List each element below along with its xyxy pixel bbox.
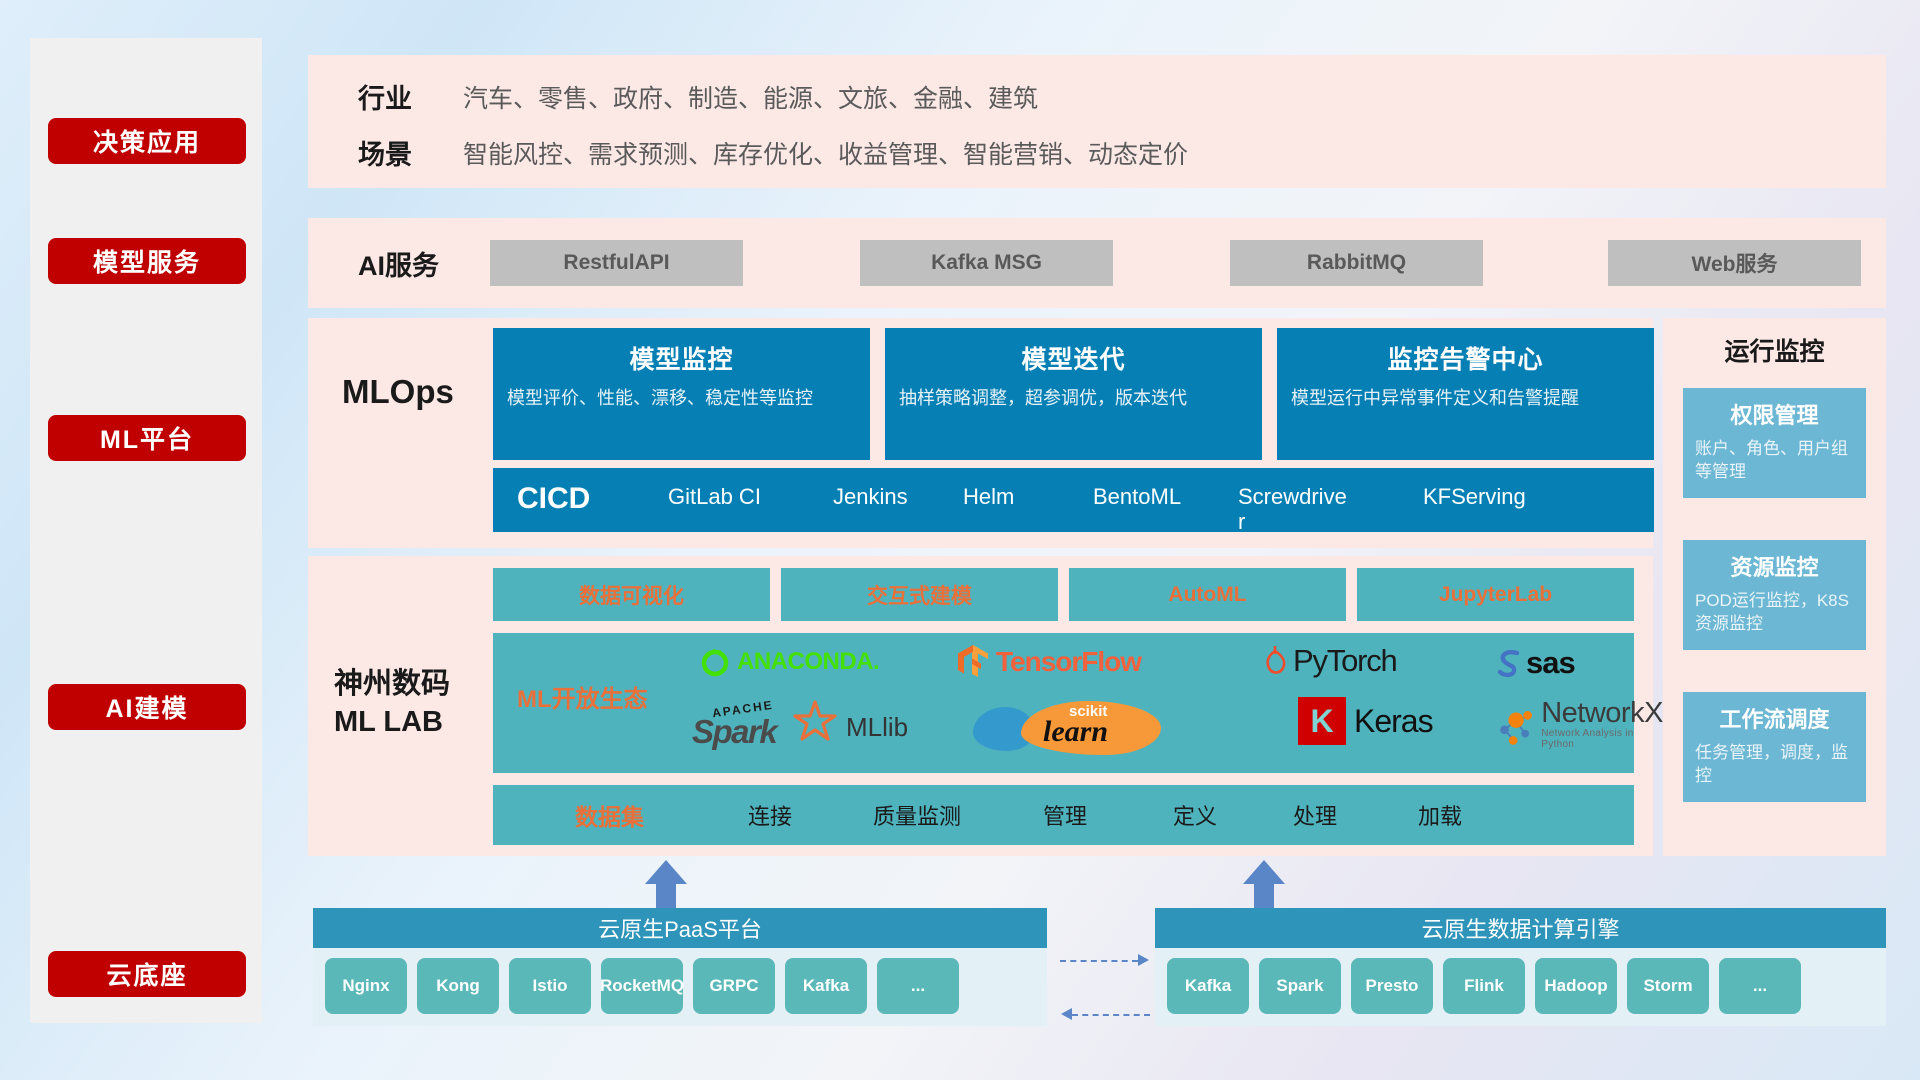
cicd-item-jenkins[interactable]: Jenkins (833, 484, 943, 509)
layer-tag-ai-modeling[interactable]: AI建模 (48, 684, 246, 730)
tensorflow-logo: TensorFlow (955, 643, 1141, 681)
mllab-label: 神州数码 ML LAB (334, 666, 450, 741)
engine-pill-more[interactable]: ... (1719, 958, 1801, 1014)
mlops-band: MLOps 模型监控 模型评价、性能、漂移、稳定性等监控 模型迭代 抽样策略调整… (308, 318, 1653, 548)
cicd-item-kfserving[interactable]: KFServing (1423, 484, 1533, 509)
ai-service-label: AI服务 (358, 218, 439, 308)
monitoring-card-title: 工作流调度 (1683, 702, 1866, 734)
scikit-learn-logo: scikit learn (973, 701, 1163, 755)
cloud-pill-kafka[interactable]: Kafka (785, 958, 867, 1014)
engine-pill-hadoop[interactable]: Hadoop (1535, 958, 1617, 1014)
tool-box-jupyterlab[interactable]: JupyterLab (1357, 568, 1634, 621)
cloud-pill-more[interactable]: ... (877, 958, 959, 1014)
cloud-pill-grpc[interactable]: GRPC (693, 958, 775, 1014)
dataset-item-process[interactable]: 处理 (1293, 799, 1337, 831)
keras-logo-text: Keras (1354, 703, 1433, 740)
mlops-label: MLOps (342, 373, 454, 411)
tool-box-interactive-modeling[interactable]: 交互式建模 (781, 568, 1058, 621)
mllab-label-line2: ML LAB (334, 704, 450, 742)
ai-service-chip-web-service[interactable]: Web服务 (1608, 240, 1861, 286)
mlops-card-alert-center[interactable]: 监控告警中心 模型运行中异常事件定义和告警提醒 (1277, 328, 1654, 460)
engine-pill-presto[interactable]: Presto (1351, 958, 1433, 1014)
pytorch-logo-text: PyTorch (1293, 643, 1397, 679)
ai-service-chip-kafka-msg[interactable]: Kafka MSG (860, 240, 1113, 286)
monitoring-card-desc: 任务管理，调度，监控 (1695, 742, 1854, 788)
dataset-item-load[interactable]: 加载 (1418, 799, 1462, 831)
networkx-logo-text: NetworkX (1541, 699, 1664, 728)
dataset-item-define[interactable]: 定义 (1173, 799, 1217, 831)
mlops-card-title: 监控告警中心 (1277, 340, 1654, 376)
spark-logo-text: Spark (692, 713, 776, 751)
networkx-logo-subtext: Network Analysis in Python (1541, 728, 1664, 750)
monitoring-card-resource[interactable]: 资源监控 POD运行监控，K8S资源监控 (1683, 540, 1866, 650)
engine-pill-flink[interactable]: Flink (1443, 958, 1525, 1014)
keras-logo: K Keras (1298, 697, 1433, 745)
layer-tag-cloud-base[interactable]: 云底座 (48, 951, 246, 997)
mlops-card-model-iteration[interactable]: 模型迭代 抽样策略调整，超参调优，版本迭代 (885, 328, 1262, 460)
ml-ecosystem-panel: ML开放生态 ANACONDA. Tensor (493, 633, 1634, 773)
scenario-label-industry: 行业 (358, 77, 412, 116)
scenario-label-usecase: 场景 (358, 133, 412, 172)
cicd-item-gitlab-ci[interactable]: GitLab CI (668, 484, 778, 509)
dataset-title: 数据集 (575, 798, 644, 832)
networkx-logo: NetworkX Network Analysis in Python (1493, 699, 1665, 750)
pytorch-logo: PyTorch (1261, 643, 1397, 679)
mlops-card-desc: 模型评价、性能、漂移、稳定性等监控 (507, 386, 856, 410)
ai-service-band: AI服务 RestfulAPI Kafka MSG RabbitMQ Web服务 (308, 218, 1886, 308)
cicd-item-helm[interactable]: Helm (963, 484, 1073, 509)
anaconda-logo: ANACONDA. (698, 645, 879, 679)
monitoring-card-title: 权限管理 (1683, 398, 1866, 430)
monitoring-card-title: 资源监控 (1683, 550, 1866, 582)
cloud-paas-body: Nginx Kong Istio RocketMQ GRPC Kafka ... (313, 948, 1047, 1026)
spark-mllib-logo: APACHE Spark MLlib (688, 699, 908, 755)
ai-service-chip-rabbitmq[interactable]: RabbitMQ (1230, 240, 1483, 286)
layer-tag-decision-app[interactable]: 决策应用 (48, 118, 246, 164)
monitoring-card-desc: 账户、角色、用户组等管理 (1695, 438, 1854, 484)
cloud-pill-nginx[interactable]: Nginx (325, 958, 407, 1014)
engine-pill-spark[interactable]: Spark (1259, 958, 1341, 1014)
engine-pill-kafka[interactable]: Kafka (1167, 958, 1249, 1014)
monitoring-card-permission[interactable]: 权限管理 账户、角色、用户组等管理 (1683, 388, 1866, 498)
tensorflow-logo-text: TensorFlow (996, 646, 1141, 678)
cloud-data-engine-body: Kafka Spark Presto Flink Hadoop Storm ..… (1155, 948, 1886, 1026)
mllab-label-line1: 神州数码 (334, 666, 450, 704)
scenario-value-industry: 汽车、零售、政府、制造、能源、文旅、金融、建筑 (463, 79, 1038, 115)
cloud-pill-rocketmq[interactable]: RocketMQ (601, 958, 683, 1014)
scenario-band: 行业 汽车、零售、政府、制造、能源、文旅、金融、建筑 场景 智能风控、需求预测、… (308, 55, 1886, 188)
keras-k-text: K (1310, 703, 1333, 740)
mllab-band: 神州数码 ML LAB 数据可视化 交互式建模 AutoML JupyterLa… (308, 556, 1653, 856)
ml-ecosystem-label: ML开放生态 (517, 679, 648, 714)
mlops-card-model-monitoring[interactable]: 模型监控 模型评价、性能、漂移、稳定性等监控 (493, 328, 870, 460)
monitoring-card-desc: POD运行监控，K8S资源监控 (1695, 590, 1854, 636)
dataset-row: 数据集 连接 质量监测 管理 定义 处理 加载 (493, 785, 1634, 845)
sas-logo-text: sas (1526, 645, 1575, 681)
layer-tag-model-service[interactable]: 模型服务 (48, 238, 246, 284)
dataset-item-connect[interactable]: 连接 (748, 799, 792, 831)
tool-box-automl[interactable]: AutoML (1069, 568, 1346, 621)
monitoring-card-workflow[interactable]: 工作流调度 任务管理，调度，监控 (1683, 692, 1866, 802)
cicd-item-screwdriver[interactable]: Screwdriver (1238, 484, 1348, 532)
cicd-item-bentoml[interactable]: BentoML (1093, 484, 1203, 509)
layer-rail: 决策应用 模型服务 ML平台 AI建模 云底座 (30, 38, 262, 1023)
cloud-paas-header: 云原生PaaS平台 (313, 908, 1047, 948)
cloud-data-engine-header: 云原生数据计算引擎 (1155, 908, 1886, 948)
anaconda-logo-text: ANACONDA. (737, 648, 879, 676)
monitoring-column: 运行监控 权限管理 账户、角色、用户组等管理 资源监控 POD运行监控，K8S资… (1663, 318, 1886, 856)
tool-box-data-visualization[interactable]: 数据可视化 (493, 568, 770, 621)
ai-service-chip-restfulapi[interactable]: RestfulAPI (490, 240, 743, 286)
mlops-card-title: 模型监控 (493, 340, 870, 376)
dataset-item-manage[interactable]: 管理 (1043, 799, 1087, 831)
mlops-card-title: 模型迭代 (885, 340, 1262, 376)
cloud-pill-kong[interactable]: Kong (417, 958, 499, 1014)
dataset-item-quality[interactable]: 质量监测 (873, 799, 961, 831)
engine-pill-storm[interactable]: Storm (1627, 958, 1709, 1014)
architecture-diagram: 决策应用 模型服务 ML平台 AI建模 云底座 行业 汽车、零售、政府、制造、能… (0, 0, 1920, 1080)
mlops-card-desc: 抽样策略调整，超参调优，版本迭代 (899, 386, 1248, 410)
cloud-pill-istio[interactable]: Istio (509, 958, 591, 1014)
mllib-logo-text: MLlib (846, 712, 908, 743)
layer-tag-ml-platform[interactable]: ML平台 (48, 415, 246, 461)
mlops-card-desc: 模型运行中异常事件定义和告警提醒 (1291, 386, 1640, 410)
cicd-bar: CICD GitLab CI Jenkins Helm BentoML Scre… (493, 468, 1654, 532)
learn-text: learn (1043, 715, 1108, 749)
monitoring-title: 运行监控 (1663, 332, 1886, 368)
cicd-title: CICD (517, 482, 590, 516)
sas-logo: sas (1493, 645, 1575, 681)
scenario-value-usecase: 智能风控、需求预测、库存优化、收益管理、智能营销、动态定价 (463, 135, 1188, 171)
